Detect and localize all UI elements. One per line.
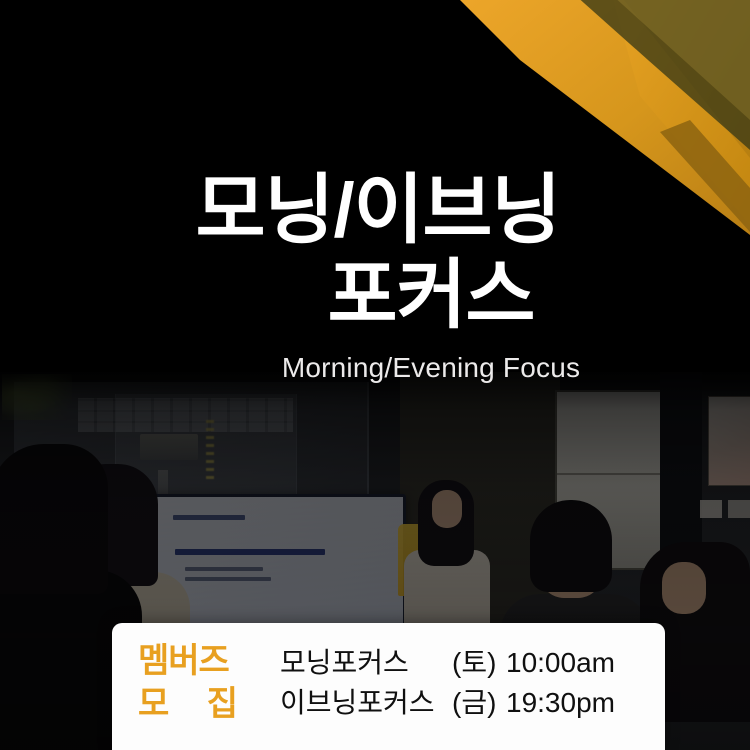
- schedule-name: 이브닝포커스: [280, 683, 452, 723]
- poster-canvas: 모닝/이브닝 포커스 Morning/Evening Focus 멤버즈 모 집…: [0, 0, 750, 750]
- title-line-1: 모닝/이브닝: [6, 168, 750, 253]
- schedule-time: 19:30pm: [506, 683, 615, 723]
- info-card: 멤버즈 모 집 모닝포커스 (토) 10:00am 이브닝포커스 (금) 19:…: [112, 623, 665, 750]
- headline-block: 모닝/이브닝 포커스 Morning/Evening Focus: [0, 168, 750, 384]
- recruit-line-2: 모 집: [138, 683, 280, 726]
- band-overlay-dark: [575, 0, 750, 150]
- title-line-2: 포커스: [112, 253, 750, 338]
- schedule-day: (토): [452, 643, 506, 683]
- schedule-row: 모닝포커스 (토) 10:00am: [280, 643, 665, 683]
- subtitle: Morning/Evening Focus: [112, 352, 750, 384]
- schedule-list: 모닝포커스 (토) 10:00am 이브닝포커스 (금) 19:30pm: [280, 643, 665, 723]
- recruit-line-1: 멤버즈: [138, 640, 280, 683]
- schedule-row: 이브닝포커스 (금) 19:30pm: [280, 683, 665, 723]
- band-overlay-light: [612, 0, 750, 120]
- schedule-time: 10:00am: [506, 643, 615, 683]
- schedule-day: (금): [452, 683, 506, 723]
- recruit-label: 멤버즈 모 집: [112, 640, 280, 726]
- schedule-name: 모닝포커스: [280, 643, 452, 683]
